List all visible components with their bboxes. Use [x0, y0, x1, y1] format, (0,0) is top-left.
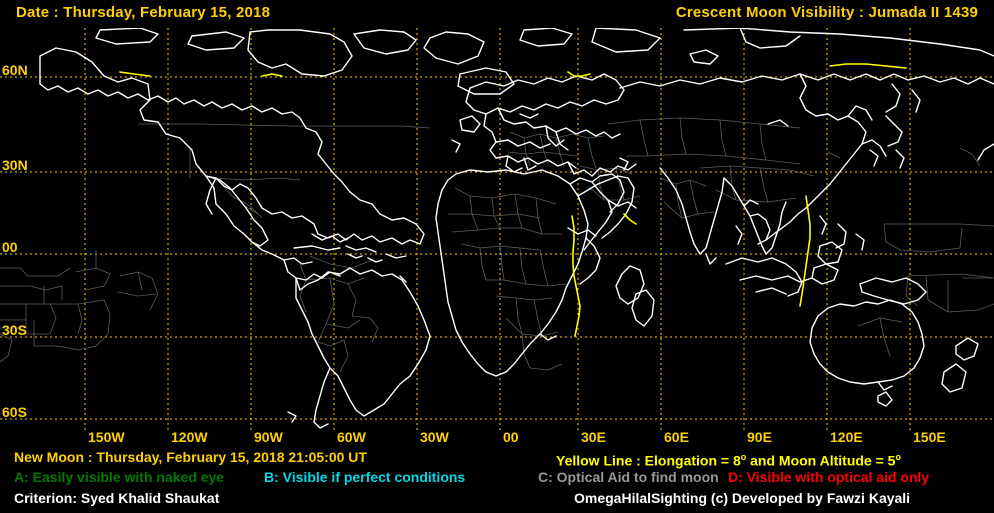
lon-label-30e: 30E: [581, 430, 606, 444]
page-title-visibility: Crescent Moon Visibility : Jumada II 143…: [676, 4, 978, 21]
lon-label-120w: 120W: [171, 430, 208, 444]
lat-label-60s: 60S: [2, 405, 27, 419]
degree-symbol-2: o: [895, 452, 901, 462]
lat-label-30s: 30S: [2, 323, 27, 337]
world-map[interactable]: [0, 28, 994, 432]
crescent-moon-visibility-window: Date : Thursday, February 15, 2018 Cresc…: [0, 0, 994, 513]
new-moon-info: New Moon : Thursday, February 15, 2018 2…: [14, 450, 367, 465]
lon-label-60e: 60E: [664, 430, 689, 444]
legend-item-b: B: Visible if perfect conditions: [264, 470, 465, 485]
software-credit: OmegaHilalSighting (c) Developed by Fawz…: [574, 491, 910, 506]
map-canvas: [0, 28, 994, 432]
legend-item-d: D: Visible with optical aid only: [728, 470, 929, 485]
page-title-date: Date : Thursday, February 15, 2018: [16, 4, 270, 21]
lat-label-60n: 60N: [2, 63, 28, 77]
yellow-line-mid: and Moon Altitude = 5: [746, 453, 895, 469]
yellow-line-info: Yellow Line : Elongation = 8o and Moon A…: [556, 450, 901, 469]
legend-item-c: C: Optical Aid to find moon: [538, 470, 719, 485]
lon-label-90e: 90E: [747, 430, 772, 444]
yellow-line-prefix: Yellow Line : Elongation = 8: [556, 453, 741, 469]
visibility-curve: [120, 64, 906, 336]
country-borders: [0, 118, 994, 372]
legend-item-a: A: Easily visible with naked eye: [14, 470, 224, 485]
lat-label-30n: 30N: [2, 158, 28, 172]
lat-label-00: 00: [2, 240, 18, 254]
lon-label-150e: 150E: [913, 430, 946, 444]
lon-label-60w: 60W: [337, 430, 366, 444]
lon-label-120e: 120E: [830, 430, 863, 444]
lon-label-90w: 90W: [254, 430, 283, 444]
lon-label-150w: 150W: [88, 430, 125, 444]
lon-label-30w: 30W: [420, 430, 449, 444]
criterion-credit: Criterion: Syed Khalid Shaukat: [14, 491, 219, 506]
lon-label-00: 00: [503, 430, 519, 444]
